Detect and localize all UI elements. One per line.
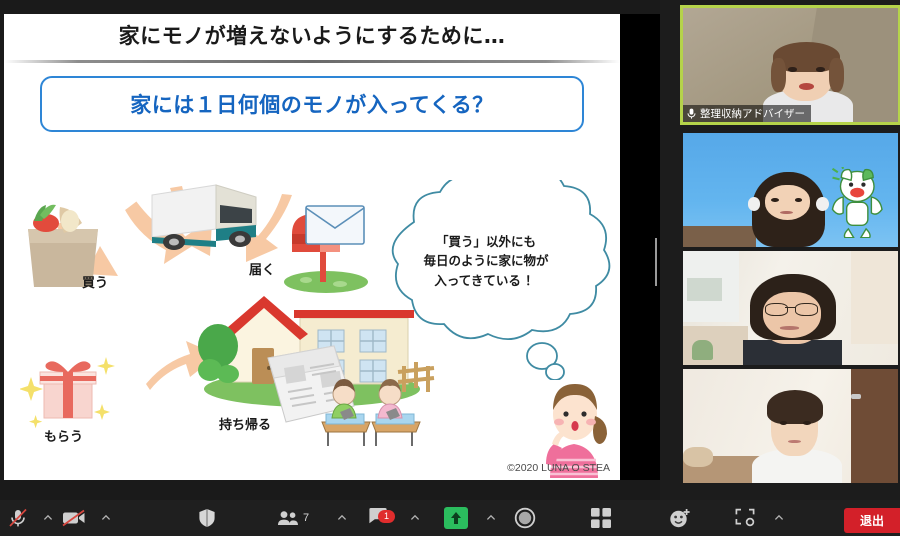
slide-title: 家にモノが増えないようにするために… (4, 20, 620, 50)
leave-meeting-label: 退出 (860, 512, 884, 529)
meeting-toolbar: 7 1 (0, 500, 900, 536)
participant-tile[interactable] (683, 133, 898, 247)
breakout-options-button[interactable] (767, 500, 784, 536)
chevron-up-icon (410, 513, 420, 523)
video-options-button[interactable] (94, 500, 111, 536)
record-button[interactable] (514, 500, 536, 536)
thought-bubble: 「買う」以外にも毎日のように家に物が入ってきている ！ (356, 180, 616, 380)
caption-bring-home: 持ち帰る (219, 414, 271, 433)
breakout-rooms-button[interactable] (734, 500, 756, 536)
mute-options-button[interactable] (36, 500, 53, 536)
chevron-up-icon (486, 513, 496, 523)
microphone-muted-icon (687, 108, 696, 119)
question-text: 家には１日何個のモノが入ってくる？ (130, 89, 493, 119)
thought-bubble-text: 「買う」以外にも毎日のように家に物が入ってきている ！ (378, 232, 594, 290)
participants-icon (277, 510, 299, 526)
video-off-icon (62, 509, 86, 527)
record-icon (514, 507, 536, 529)
chat-button[interactable]: 1 (368, 500, 388, 536)
participants-button[interactable]: 7 (277, 500, 309, 536)
apps-button[interactable] (590, 500, 612, 536)
reactions-icon (668, 507, 692, 529)
stage-filler (620, 14, 660, 480)
leave-meeting-button[interactable]: 退出 (844, 508, 900, 533)
slide-copyright: ©2020 LUNA O STEA (507, 462, 610, 474)
participant-video (683, 133, 898, 247)
video-button[interactable] (62, 500, 86, 536)
students-desks-icon (316, 372, 428, 458)
security-button[interactable] (198, 500, 216, 536)
title-divider (4, 60, 620, 63)
panel-drag-handle[interactable] (655, 238, 661, 262)
chevron-up-icon (337, 513, 347, 523)
shield-icon (198, 508, 216, 528)
shared-screen-stage: 家にモノが増えないようにするために… 家には１日何個のモノが入ってくる？ (0, 0, 660, 500)
apps-icon (590, 507, 612, 529)
chevron-up-icon (774, 513, 784, 523)
gift-box-icon (20, 344, 116, 430)
mascot-sticker-icon (825, 167, 890, 238)
participant-tile[interactable]: 整理収納アドバイザー (680, 5, 900, 125)
participant-tile[interactable] (683, 251, 898, 365)
participant-name-badge: 整理収納アドバイザー (683, 105, 811, 122)
presentation-slide: 家にモノが増えないようにするために… 家には１日何個のモノが入ってくる？ (4, 14, 620, 480)
share-screen-icon (450, 511, 462, 525)
participant-video (683, 369, 898, 483)
share-screen-button[interactable] (444, 500, 468, 536)
participant-video (683, 251, 898, 365)
chat-unread-badge: 1 (378, 510, 395, 523)
participant-name: 整理収納アドバイザー (700, 106, 805, 121)
delivery-truck-icon (144, 179, 274, 259)
share-options-button[interactable] (479, 500, 496, 536)
participants-count: 7 (303, 512, 309, 524)
zoom-meeting-window: 家にモノが増えないようにするために… 家には１日何個のモノが入ってくる？ (0, 0, 900, 536)
slide-title-bar: 家にモノが増えないようにするために… (4, 14, 620, 58)
participant-filmstrip: 整理収納アドバイザー (662, 0, 900, 500)
caption-buy: 買う (82, 272, 108, 291)
question-callout-box: 家には１日何個のモノが入ってくる？ (40, 76, 584, 132)
chat-options-button[interactable] (403, 500, 420, 536)
mute-button[interactable] (8, 500, 28, 536)
reactions-button[interactable] (668, 500, 692, 536)
participants-options-button[interactable] (330, 500, 347, 536)
chevron-up-icon (101, 513, 111, 523)
microphone-muted-icon (8, 508, 28, 528)
breakout-rooms-icon (734, 508, 756, 528)
caption-receive: もらう (44, 426, 83, 445)
participant-tile[interactable] (683, 369, 898, 483)
chevron-up-icon (43, 513, 53, 523)
